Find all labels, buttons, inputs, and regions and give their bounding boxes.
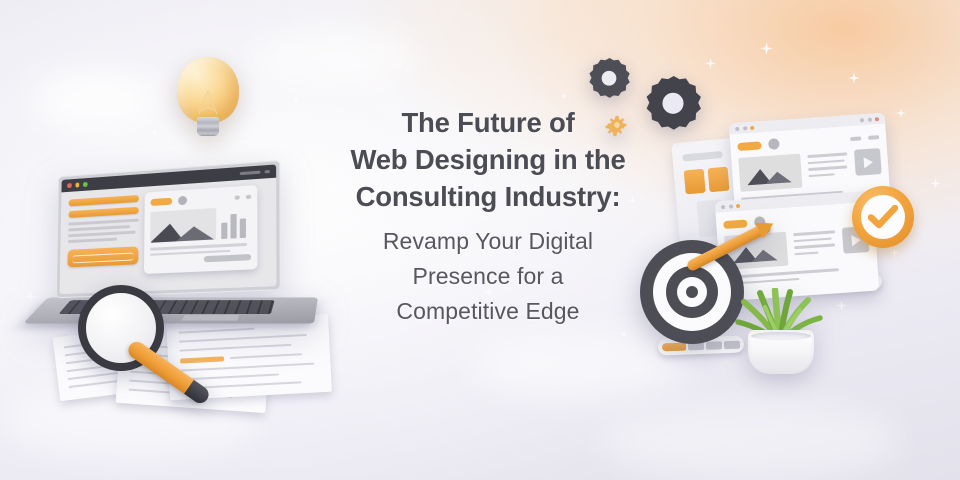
subtitle-line: Presence for a	[296, 259, 680, 294]
sidebar-column	[68, 195, 139, 267]
window-close-icon[interactable]	[67, 183, 71, 188]
window-dot-icon	[728, 204, 732, 208]
accent-bar	[69, 195, 139, 206]
cta-button[interactable]	[68, 246, 139, 267]
content-card	[144, 185, 257, 274]
sparkle-icon	[848, 72, 860, 84]
play-button-icon[interactable]	[854, 148, 882, 176]
avatar	[768, 138, 780, 150]
text-lines	[793, 228, 837, 259]
window-dot-icon	[735, 126, 739, 130]
sparkle-icon	[620, 330, 628, 338]
laptop-lid	[56, 160, 281, 298]
image-placeholder	[150, 208, 216, 243]
avatar	[178, 196, 187, 206]
sparkle-icon	[404, 66, 411, 73]
texture-blob	[30, 70, 160, 130]
headline-block: The Future of Web Designing in the Consu…	[296, 104, 680, 329]
sparkle-icon	[890, 248, 899, 257]
sparkle-icon	[930, 178, 941, 189]
gear-icon	[586, 58, 632, 109]
window-minimize-icon[interactable]	[75, 183, 79, 188]
menu-dash-icon	[235, 195, 240, 199]
window-close-icon[interactable]	[875, 117, 879, 121]
potted-plant	[732, 288, 828, 376]
orange-tile	[708, 167, 730, 193]
window-dot-icon	[860, 118, 864, 122]
plant-pot	[748, 330, 814, 374]
window-dot-icon	[743, 126, 747, 130]
magnifying-glass-icon	[78, 285, 164, 371]
window-maximize-icon[interactable]	[83, 182, 87, 187]
card-action-button[interactable]	[204, 254, 251, 262]
check-badge	[852, 186, 914, 248]
card-footer	[727, 266, 871, 285]
sparkle-icon	[150, 128, 159, 137]
laptop-screen	[60, 164, 277, 294]
texture-blob	[250, 30, 420, 85]
orange-tile	[684, 169, 706, 195]
menu-dash-icon	[246, 194, 251, 198]
window-dot-icon	[721, 204, 725, 208]
laptop-trackpad	[180, 315, 240, 321]
toolbar-placeholder	[265, 170, 270, 173]
sparkle-icon	[705, 58, 716, 69]
title-line: Web Designing in the	[296, 141, 680, 178]
placeholder-bar	[682, 151, 722, 161]
card-footer	[150, 243, 251, 256]
text-lines	[807, 150, 849, 181]
mini-bar-chart	[221, 206, 246, 239]
lightbulb-filament-icon	[197, 87, 219, 115]
menu-dash-icon	[850, 136, 861, 141]
subtitle-line: Competitive Edge	[296, 294, 680, 329]
accent-pill	[150, 198, 172, 206]
subtitle-line: Revamp Your Digital	[296, 224, 680, 259]
texture-blob	[600, 400, 900, 480]
accent-pill	[723, 219, 747, 229]
title-line: The Future of	[296, 104, 680, 141]
check-badge-inner	[861, 195, 905, 239]
lightbulb-base	[197, 117, 219, 136]
sparkle-icon	[292, 96, 300, 104]
laptop-base	[23, 297, 318, 323]
accent-bar	[68, 207, 138, 218]
sparkle-icon	[760, 42, 773, 55]
sparkle-icon	[896, 108, 906, 118]
banner-canvas: The Future of Web Designing in the Consu…	[0, 0, 960, 480]
page-title: The Future of Web Designing in the Consu…	[296, 104, 680, 215]
browser-viewport	[60, 178, 277, 294]
title-line: Consulting Industry:	[296, 178, 680, 215]
text-highlight	[180, 356, 224, 363]
sparkle-icon	[836, 300, 847, 311]
target-bullseye	[686, 286, 698, 298]
sparkle-icon	[560, 92, 568, 100]
toolbar-placeholder	[240, 171, 261, 175]
window-dot-icon	[736, 203, 740, 207]
idea-lightbulb-icon	[177, 57, 239, 123]
image-placeholder	[738, 154, 802, 192]
check-icon	[868, 205, 898, 229]
window-dot-icon	[867, 117, 871, 121]
accent-pill	[737, 141, 761, 151]
card-main	[150, 206, 251, 243]
menu-dash-icon	[868, 135, 879, 140]
card-content-row	[738, 148, 882, 192]
card-header	[150, 192, 251, 207]
page-subtitle: Revamp Your Digital Presence for a Compe…	[296, 224, 680, 329]
window-dot-icon	[750, 125, 754, 129]
